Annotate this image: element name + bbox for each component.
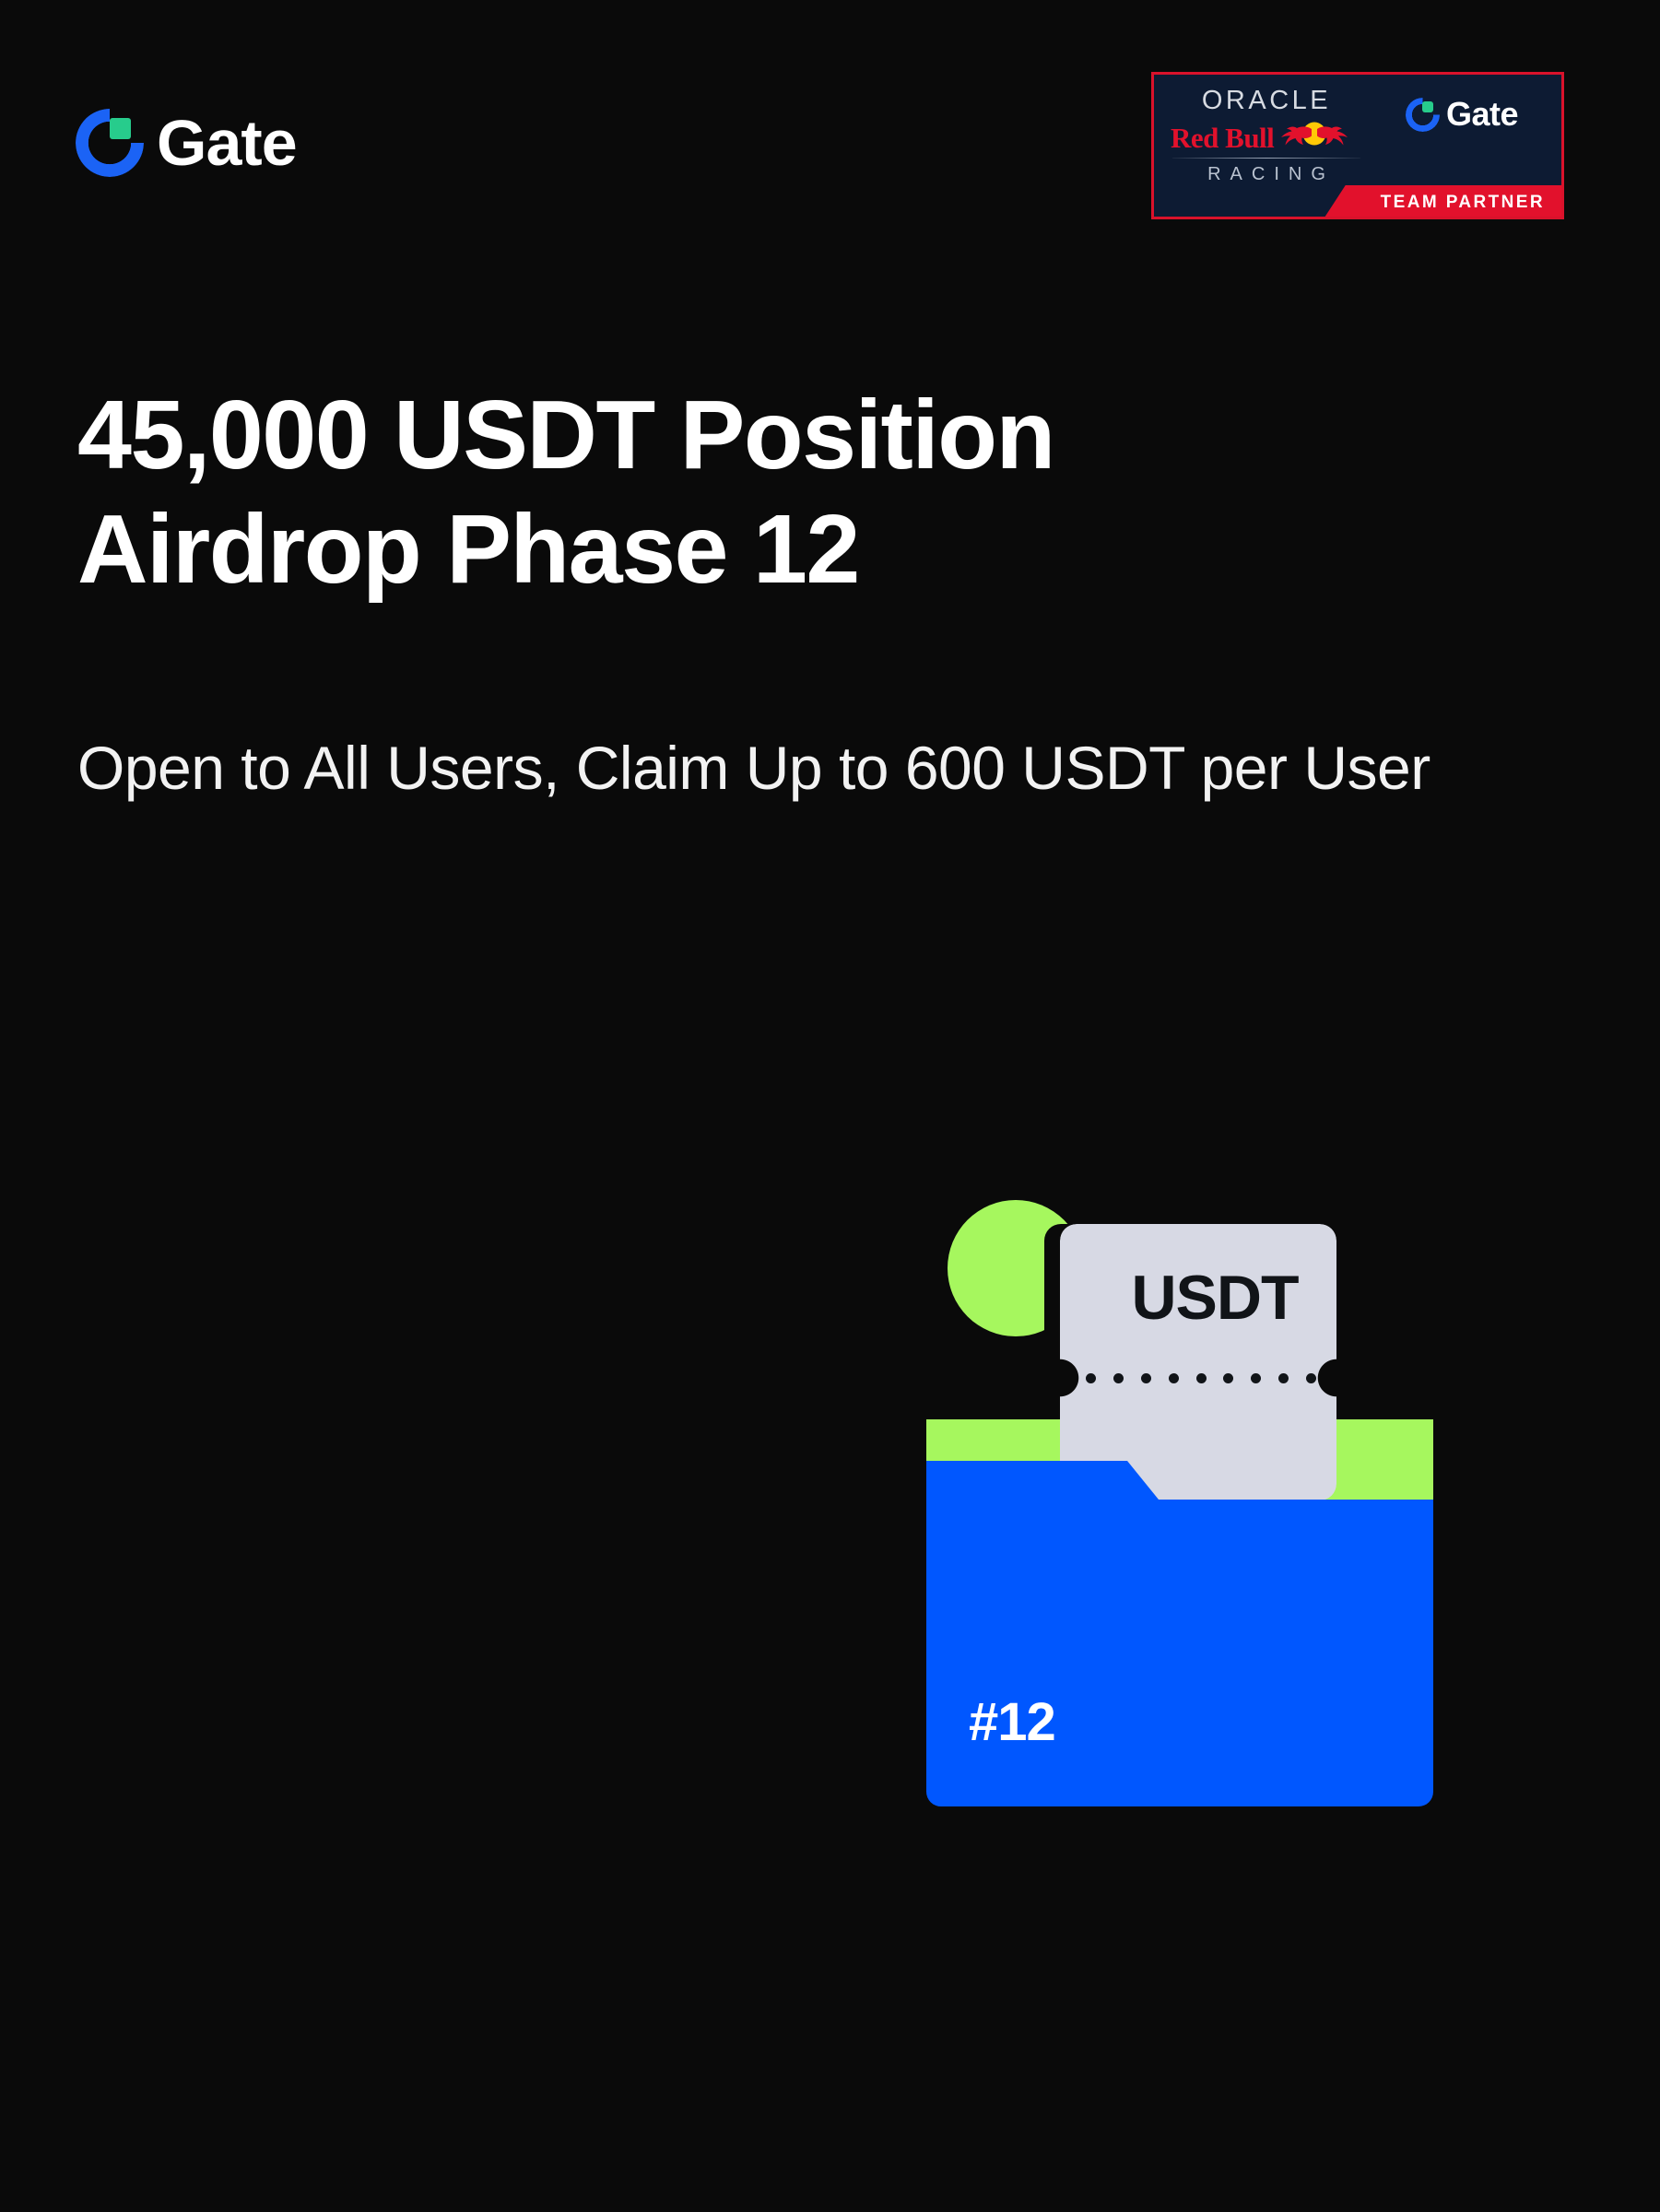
red-bull-racing-lockup: ORACLE Red Bull RACING (1154, 75, 1362, 183)
usdt-ticket-card: USDT (1060, 1224, 1336, 1500)
poster-header: Gate ORACLE Red Bull (0, 0, 1660, 249)
ticket-perforation-row (1086, 1373, 1316, 1383)
airdrop-promo-poster: Gate ORACLE Red Bull (0, 0, 1660, 2212)
red-bull-wordmark: Red Bull (1171, 124, 1274, 152)
green-accent-bar-right (1324, 1419, 1433, 1512)
perforation-dot (1169, 1373, 1179, 1383)
oracle-wordmark: ORACLE (1171, 88, 1362, 114)
badge-divider (1172, 158, 1360, 159)
perforation-dot (1278, 1373, 1289, 1383)
gate-logo-icon (1406, 98, 1440, 132)
page-subtitle: Open to All Users, Claim Up to 600 USDT … (77, 728, 1488, 809)
blue-folder-pocket: #12 (926, 1461, 1433, 1806)
perforation-dot (1251, 1373, 1261, 1383)
racing-wordmark: RACING (1171, 165, 1362, 183)
perforation-dot (1196, 1373, 1207, 1383)
team-partner-label: TEAM PARTNER (1381, 194, 1545, 211)
phase-number-label: #12 (969, 1696, 1055, 1749)
red-bull-charging-bulls-icon (1278, 121, 1350, 154)
gate-wordmark-badge: Gate (1446, 98, 1518, 131)
perforation-dot (1086, 1373, 1096, 1383)
usdt-ticket-label: USDT (1060, 1266, 1336, 1329)
usdt-voucher-illustration: USDT #12 (926, 1189, 1461, 1834)
perforation-dot (1113, 1373, 1124, 1383)
team-partner-badge: ORACLE Red Bull RACING (1151, 72, 1564, 219)
gate-square-shape (1422, 101, 1432, 112)
page-title: 45,000 USDT Position Airdrop Phase 12 (77, 378, 1349, 606)
gate-logo-lockup-badge: Gate (1406, 98, 1518, 132)
gate-brand-logo[interactable]: Gate (76, 109, 297, 177)
gate-square-shape (110, 118, 131, 139)
perforation-dot (1223, 1373, 1233, 1383)
perforation-dot (1141, 1373, 1151, 1383)
gate-logo-icon (76, 109, 144, 177)
gate-wordmark: Gate (157, 111, 297, 175)
partner-gate-logo: Gate (1362, 75, 1561, 178)
perforation-dot (1306, 1373, 1316, 1383)
red-bull-row: Red Bull (1171, 120, 1362, 155)
